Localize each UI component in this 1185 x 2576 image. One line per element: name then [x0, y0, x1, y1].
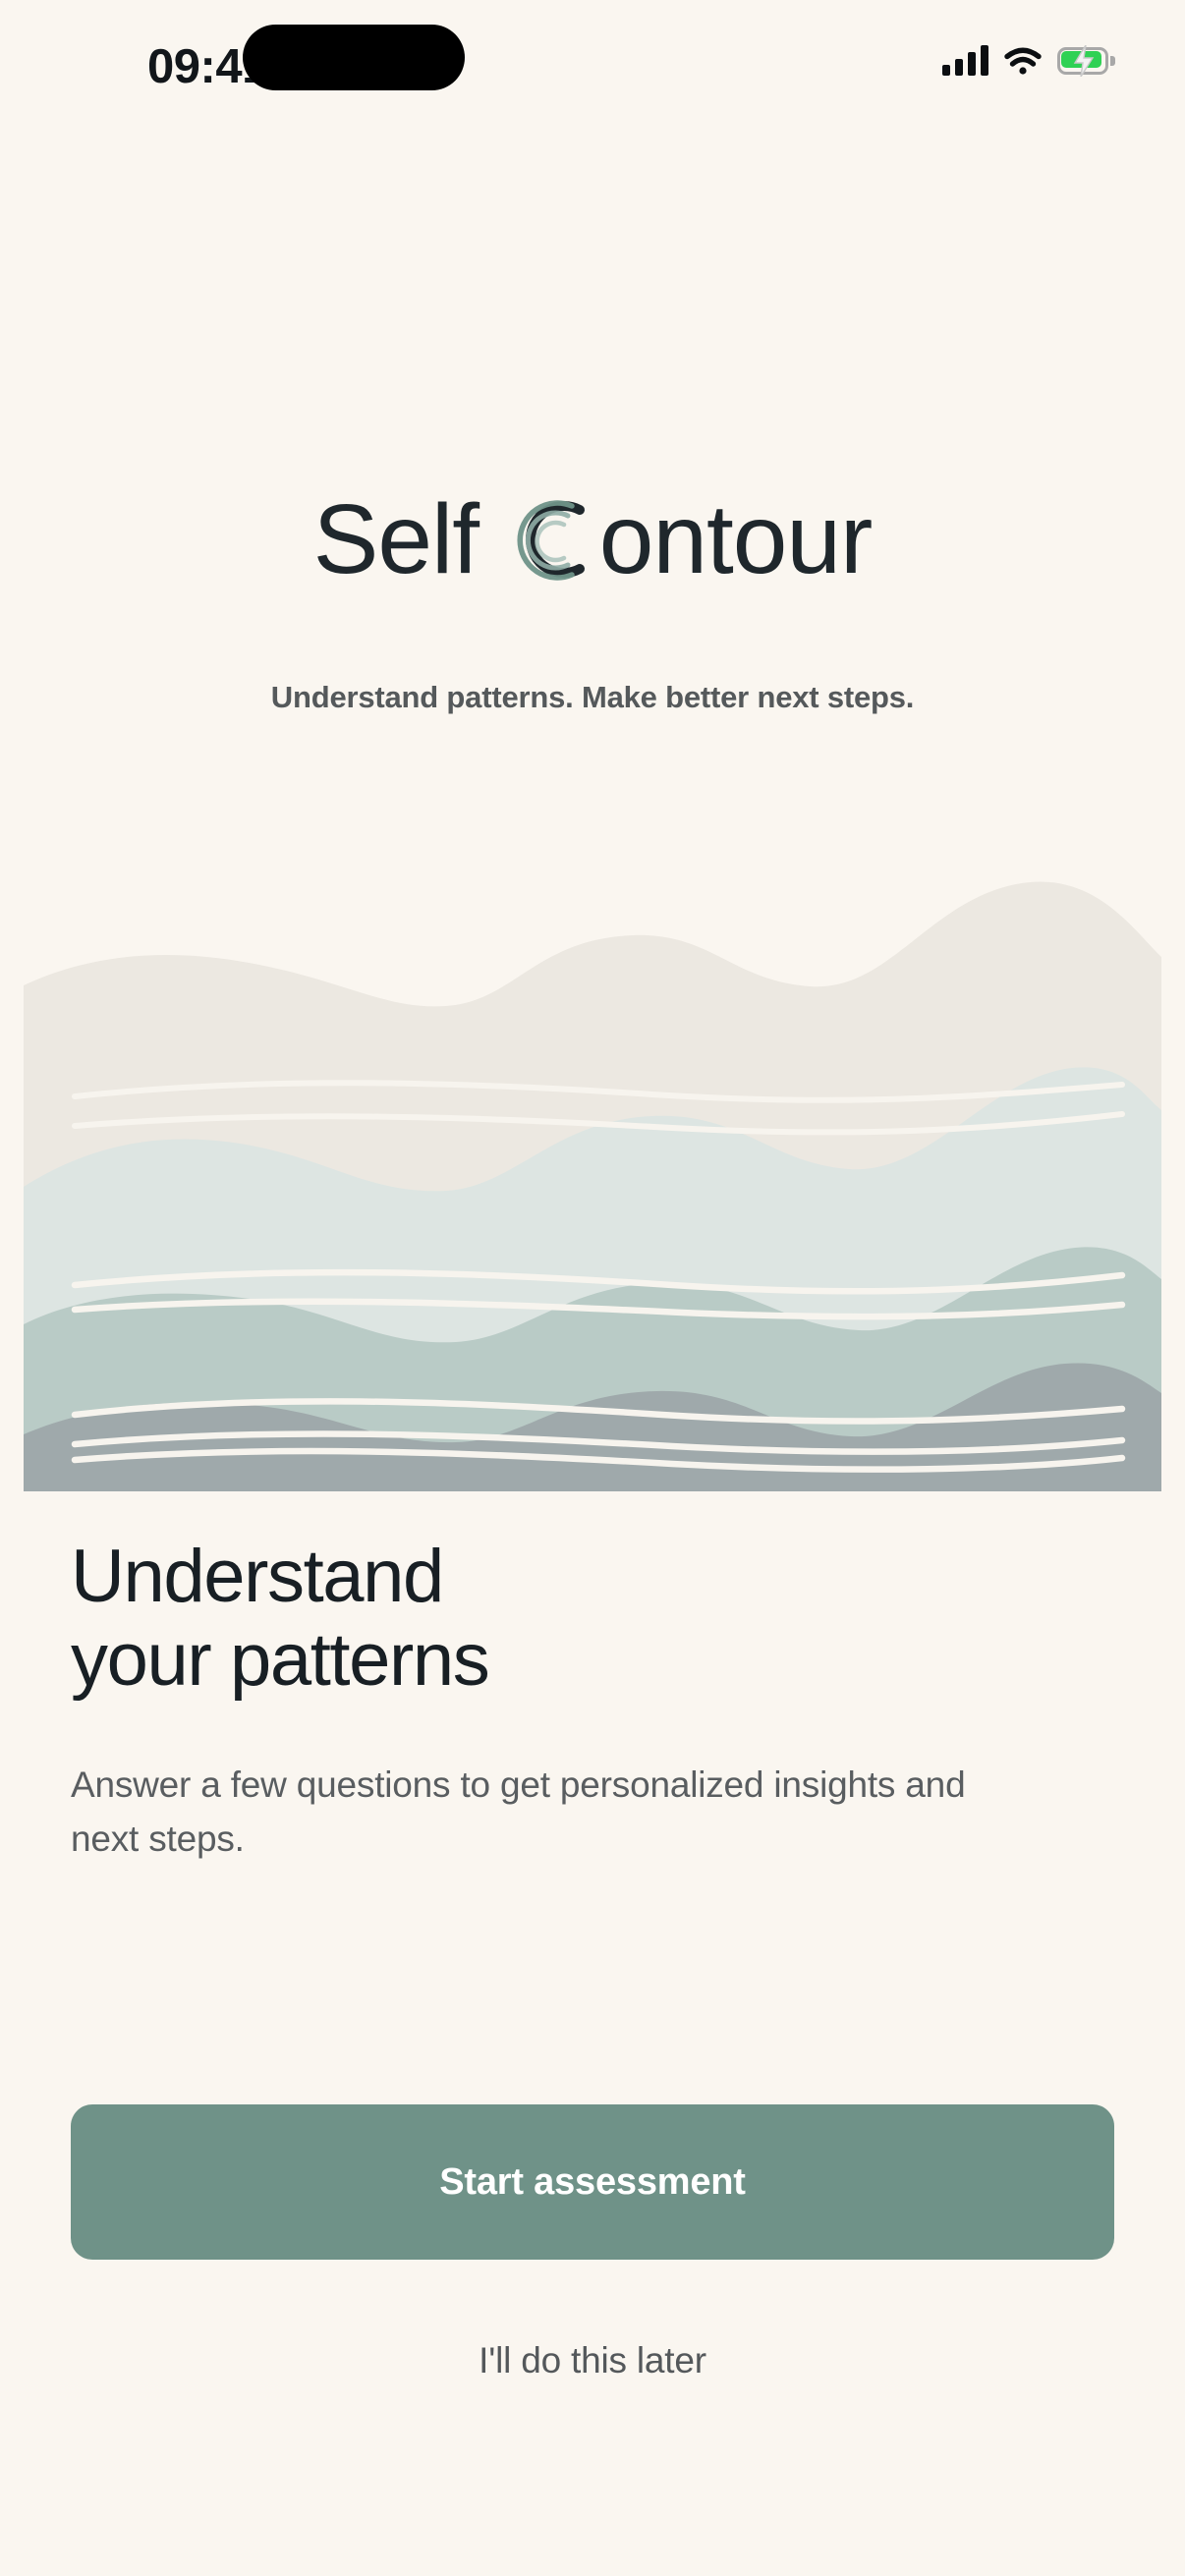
- dynamic-island: [243, 25, 465, 90]
- page-title: Understand your patterns: [71, 1535, 1053, 1702]
- battery-charging-icon: [1057, 47, 1108, 75]
- onboarding-screen: 09:41 Self: [0, 0, 1185, 2576]
- start-assessment-button[interactable]: Start assessment: [71, 2104, 1114, 2260]
- page-description: Answer a few questions to get personaliz…: [71, 1759, 994, 1867]
- headline-line-2: your patterns: [71, 1618, 1053, 1702]
- status-bar: 09:41: [0, 0, 1185, 147]
- brand-name-part1: Self: [313, 490, 505, 588]
- brand-wordmark: Self ontour: [0, 488, 1185, 590]
- contour-c-logo-icon: [507, 488, 597, 590]
- brand-name-part2: ontour: [599, 490, 873, 588]
- wifi-icon: [1004, 46, 1042, 76]
- headline-line-1: Understand: [71, 1535, 1053, 1618]
- cellular-signal-icon: [942, 45, 988, 76]
- brand-tagline: Understand patterns. Make better next st…: [0, 680, 1185, 715]
- do-this-later-link[interactable]: I'll do this later: [0, 2340, 1185, 2381]
- status-bar-indicators: [942, 45, 1108, 76]
- layered-contour-hills-illustration: [24, 863, 1161, 1491]
